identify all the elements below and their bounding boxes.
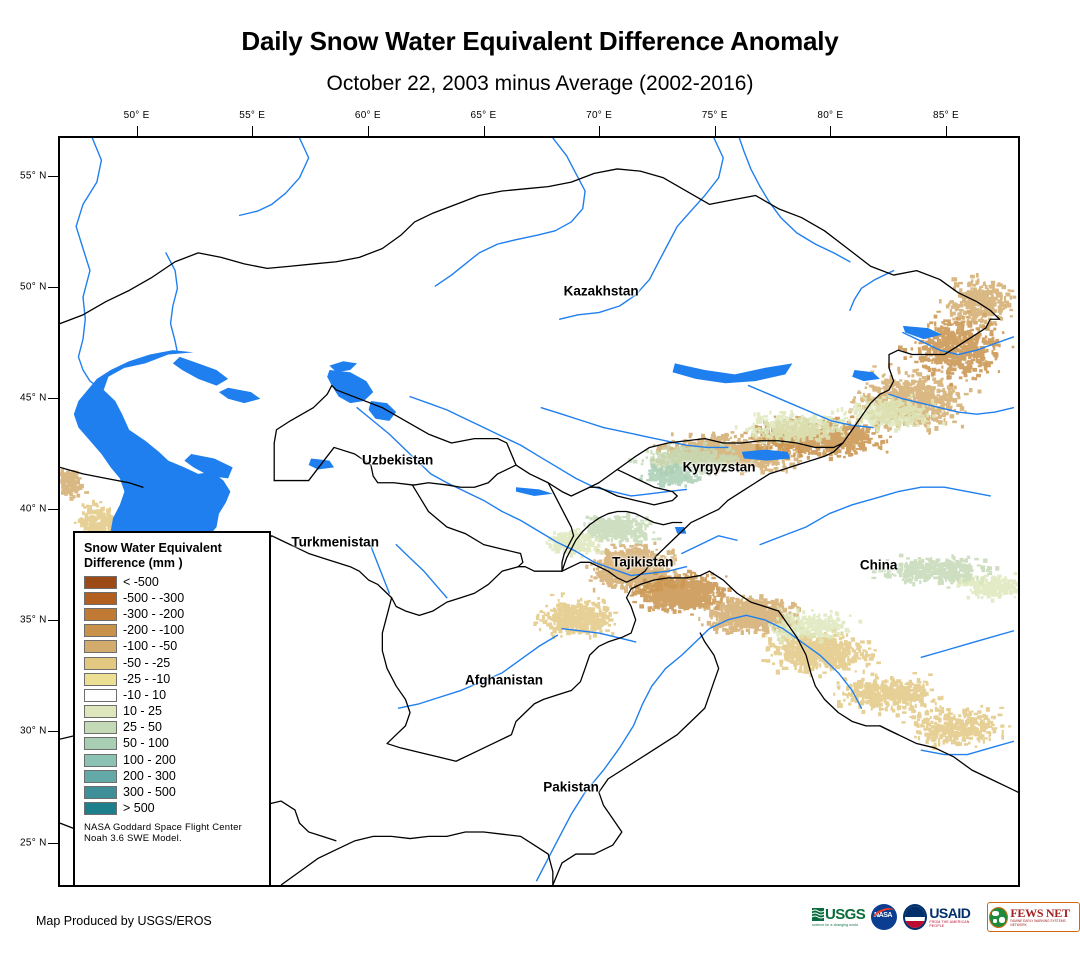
legend-row: 50 - 100 bbox=[84, 736, 261, 752]
lat-tick-35 bbox=[48, 620, 58, 621]
usaid-logo: USAID FROM THE AMERICAN PEOPLE bbox=[903, 904, 981, 930]
legend-swatch bbox=[84, 737, 117, 750]
legend-row: 200 - 300 bbox=[84, 768, 261, 784]
lat-label-40: 40° N bbox=[20, 504, 47, 515]
legend-row: -50 - -25 bbox=[84, 655, 261, 671]
legend-row: 10 - 25 bbox=[84, 704, 261, 720]
border-kazakhstan-north bbox=[60, 169, 1000, 324]
legend-swatch bbox=[84, 592, 117, 605]
legend-label: 300 - 500 bbox=[123, 786, 176, 799]
legend-swatch bbox=[84, 624, 117, 637]
legend-swatch bbox=[84, 705, 117, 718]
lat-tick-55 bbox=[48, 176, 58, 177]
legend-label: -25 - -10 bbox=[123, 673, 170, 686]
caspian-ne-lobe bbox=[173, 357, 228, 386]
legend-swatch bbox=[84, 689, 117, 702]
legend-label: -100 - -50 bbox=[123, 640, 177, 653]
lat-label-45: 45° N bbox=[20, 393, 47, 404]
country-label-pakistan: Pakistan bbox=[543, 779, 599, 794]
lat-tick-50 bbox=[48, 287, 58, 288]
legend-label: 25 - 50 bbox=[123, 721, 162, 734]
lat-label-25: 25° N bbox=[20, 837, 47, 848]
usaid-wordmark: USAID bbox=[929, 907, 981, 920]
lake-alakol bbox=[852, 370, 880, 381]
legend-label: < -500 bbox=[123, 576, 159, 589]
river-1 bbox=[240, 138, 309, 215]
nasa-logo: NASA bbox=[871, 904, 897, 930]
fews-wordmark: FEWS NET bbox=[1010, 908, 1077, 919]
legend-label: 50 - 100 bbox=[123, 737, 169, 750]
lon-tick-70 bbox=[599, 126, 600, 136]
legend-title: Snow Water Equivalent Difference (mm ) bbox=[84, 541, 261, 571]
country-label-kyrgyzstan: Kyrgyzstan bbox=[683, 459, 756, 474]
aydar-lake bbox=[516, 487, 553, 496]
lon-label-60: 60° E bbox=[355, 110, 381, 121]
border-india-nepal-w bbox=[880, 726, 898, 735]
legend-label: -200 - -100 bbox=[123, 624, 184, 637]
lon-tick-60 bbox=[368, 126, 369, 136]
map-legend: Snow Water Equivalent Difference (mm ) <… bbox=[73, 531, 271, 887]
lon-tick-80 bbox=[830, 126, 831, 136]
legend-title-line2: Difference (mm ) bbox=[84, 556, 261, 571]
legend-label: 10 - 25 bbox=[123, 705, 162, 718]
lon-label-75: 75° E bbox=[702, 110, 728, 121]
lat-label-30: 30° N bbox=[20, 726, 47, 737]
legend-row: -300 - -200 bbox=[84, 606, 261, 622]
lat-tick-25 bbox=[48, 843, 58, 844]
lat-label-35: 35° N bbox=[20, 615, 47, 626]
legend-row: -200 - -100 bbox=[84, 623, 261, 639]
legend-swatch bbox=[84, 770, 117, 783]
border-pak-india bbox=[553, 633, 719, 885]
aral-sea-north bbox=[327, 370, 373, 403]
legend-row: -10 - 10 bbox=[84, 687, 261, 703]
river-19 bbox=[682, 536, 737, 554]
legend-row: 300 - 500 bbox=[84, 784, 261, 800]
legend-row: -100 - -50 bbox=[84, 639, 261, 655]
legend-row: 100 - 200 bbox=[84, 752, 261, 768]
nasa-swoosh-icon bbox=[872, 906, 896, 924]
usgs-tagline: science for a changing world bbox=[812, 923, 858, 927]
legend-row: < -500 bbox=[84, 574, 261, 590]
agency-logos: USGS science for a changing world NASA U… bbox=[812, 902, 1080, 932]
country-label-uzbekistan: Uzbekistan bbox=[362, 453, 433, 468]
lon-tick-75 bbox=[715, 126, 716, 136]
legend-swatch bbox=[84, 721, 117, 734]
lon-tick-55 bbox=[252, 126, 253, 136]
legend-swatch bbox=[84, 673, 117, 686]
fews-tagline: FAMINE EARLY WARNING SYSTEMS NETWORK bbox=[1010, 919, 1077, 927]
lon-label-50: 50° E bbox=[124, 110, 150, 121]
river-20 bbox=[921, 631, 1013, 657]
page-title: Daily Snow Water Equivalent Difference A… bbox=[0, 26, 1080, 57]
lon-label-65: 65° E bbox=[470, 110, 496, 121]
coast-makran bbox=[281, 832, 553, 885]
legend-swatch bbox=[84, 786, 117, 799]
map-credit: Map Produced by USGS/EROS bbox=[36, 914, 212, 928]
anomaly-patch bbox=[533, 592, 618, 639]
legend-label: -50 - -25 bbox=[123, 657, 170, 670]
anomaly-patch bbox=[581, 512, 662, 544]
river-12 bbox=[396, 545, 447, 598]
river-0 bbox=[76, 138, 101, 388]
lon-label-55: 55° E bbox=[239, 110, 265, 121]
usgs-logo: USGS science for a changing world bbox=[812, 904, 865, 930]
fews-net-logo: FEWS NET FAMINE EARLY WARNING SYSTEMS NE… bbox=[987, 902, 1080, 932]
river-14 bbox=[166, 253, 177, 352]
lon-tick-50 bbox=[137, 126, 138, 136]
legend-label: -300 - -200 bbox=[123, 608, 184, 621]
legend-swatch bbox=[84, 657, 117, 670]
legend-row: -500 - -300 bbox=[84, 590, 261, 606]
river-4 bbox=[739, 138, 850, 262]
river-7 bbox=[410, 397, 686, 496]
legend-label: > 500 bbox=[123, 802, 155, 815]
lat-label-55: 55° N bbox=[20, 170, 47, 181]
legend-label: -10 - 10 bbox=[123, 689, 166, 702]
legend-source-line1: NASA Goddard Space Flight Center bbox=[84, 822, 261, 834]
river-18 bbox=[562, 629, 636, 642]
country-label-kazakhstan: Kazakhstan bbox=[564, 284, 639, 299]
river-5 bbox=[850, 271, 894, 311]
anomaly-patch bbox=[898, 310, 1014, 386]
lon-label-80: 80° E bbox=[817, 110, 843, 121]
kara-bogaz-arm bbox=[219, 388, 260, 403]
lon-tick-65 bbox=[484, 126, 485, 136]
legend-swatch bbox=[84, 640, 117, 653]
lat-tick-30 bbox=[48, 731, 58, 732]
legend-row: -25 - -10 bbox=[84, 671, 261, 687]
legend-title-line1: Snow Water Equivalent bbox=[84, 541, 261, 556]
border-uzbek-tajik bbox=[548, 483, 573, 571]
legend-source-note: NASA Goddard Space Flight Center Noah 3.… bbox=[84, 822, 261, 845]
page-subtitle: October 22, 2003 minus Average (2002-201… bbox=[0, 72, 1080, 96]
country-label-afghanistan: Afghanistan bbox=[465, 673, 543, 688]
legend-row: > 500 bbox=[84, 801, 261, 817]
lat-label-50: 50° N bbox=[20, 282, 47, 293]
legend-swatch bbox=[84, 754, 117, 767]
lat-tick-45 bbox=[48, 398, 58, 399]
legend-swatch bbox=[84, 608, 117, 621]
river-2 bbox=[435, 138, 585, 286]
lake-balkhash bbox=[673, 363, 793, 383]
lon-label-85: 85° E bbox=[933, 110, 959, 121]
legend-swatch bbox=[84, 802, 117, 815]
usaid-tagline: FROM THE AMERICAN PEOPLE bbox=[929, 920, 981, 928]
legend-class-list: < -500-500 - -300-300 - -200-200 - -100-… bbox=[84, 574, 261, 817]
country-label-turkmenistan: Turkmenistan bbox=[291, 535, 379, 550]
country-label-tajikistan: Tajikistan bbox=[612, 555, 673, 570]
country-label-china: China bbox=[860, 557, 898, 572]
legend-swatch bbox=[84, 576, 117, 589]
river-15 bbox=[760, 487, 990, 544]
globe-icon bbox=[989, 907, 1008, 928]
lat-tick-40 bbox=[48, 509, 58, 510]
usaid-seal-icon bbox=[903, 904, 927, 930]
border-uzbek-kazakh bbox=[274, 386, 516, 488]
lon-label-70: 70° E bbox=[586, 110, 612, 121]
legend-row: 25 - 50 bbox=[84, 720, 261, 736]
usgs-wave-icon bbox=[812, 908, 824, 921]
lon-tick-85 bbox=[946, 126, 947, 136]
legend-label: 200 - 300 bbox=[123, 770, 176, 783]
legend-label: -500 - -300 bbox=[123, 592, 184, 605]
legend-label: 100 - 200 bbox=[123, 754, 176, 767]
usgs-wordmark: USGS bbox=[825, 908, 865, 922]
legend-source-line2: Noah 3.6 SWE Model. bbox=[84, 833, 261, 845]
